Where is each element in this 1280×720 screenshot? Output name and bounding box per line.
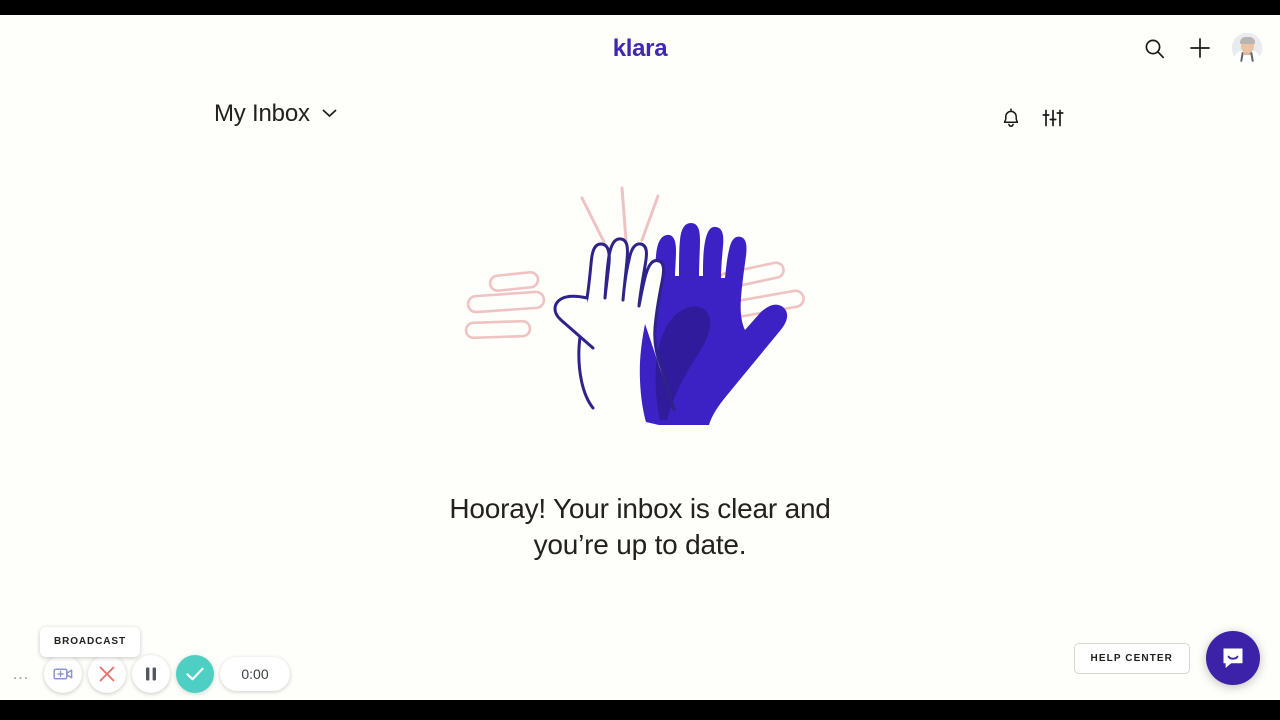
check-icon[interactable] (176, 655, 214, 693)
headline-line-2: you’re up to date. (320, 527, 960, 563)
letterbox-top (0, 0, 1280, 15)
top-navigation-bar: klara (0, 15, 1280, 82)
help-center-button[interactable]: HELP CENTER (1074, 643, 1190, 674)
letterbox-bottom (0, 700, 1280, 720)
app-viewport: klara (0, 15, 1280, 700)
close-x-icon[interactable] (88, 655, 126, 693)
inbox-actions (997, 104, 1067, 132)
recording-timer: 0:00 (220, 657, 290, 691)
headline-line-1: Hooray! Your inbox is clear and (320, 491, 960, 527)
broadcast-tooltip: BROADCAST (40, 627, 140, 657)
inbox-header-row: My Inbox (0, 100, 1280, 150)
chevron-down-icon[interactable] (322, 105, 337, 123)
screen-root: klara (0, 0, 1280, 720)
page-title: My Inbox (214, 100, 310, 128)
avatar[interactable] (1232, 33, 1262, 63)
high-five-hands-illustration (460, 170, 820, 440)
pink-capsules-left (466, 272, 545, 339)
video-camera-add-icon[interactable] (44, 655, 82, 693)
filled-hand (640, 223, 787, 425)
klara-logo[interactable]: klara (0, 15, 1280, 82)
pink-rays (582, 188, 658, 242)
screen-recorder-toolbar: BROADCAST … (4, 655, 290, 693)
plus-icon[interactable] (1186, 34, 1214, 62)
inbox-selector[interactable]: My Inbox (214, 100, 337, 128)
search-icon[interactable] (1140, 34, 1168, 62)
bell-icon[interactable] (997, 104, 1025, 132)
pause-icon[interactable] (132, 655, 170, 693)
avatar-hair (1240, 37, 1255, 44)
sliders-icon[interactable] (1039, 104, 1067, 132)
topbar-actions (1140, 33, 1262, 63)
recorder-more-button[interactable]: … (4, 657, 38, 691)
intercom-chat-icon[interactable] (1206, 631, 1260, 685)
empty-state-headline: Hooray! Your inbox is clear and you’re u… (320, 491, 960, 563)
